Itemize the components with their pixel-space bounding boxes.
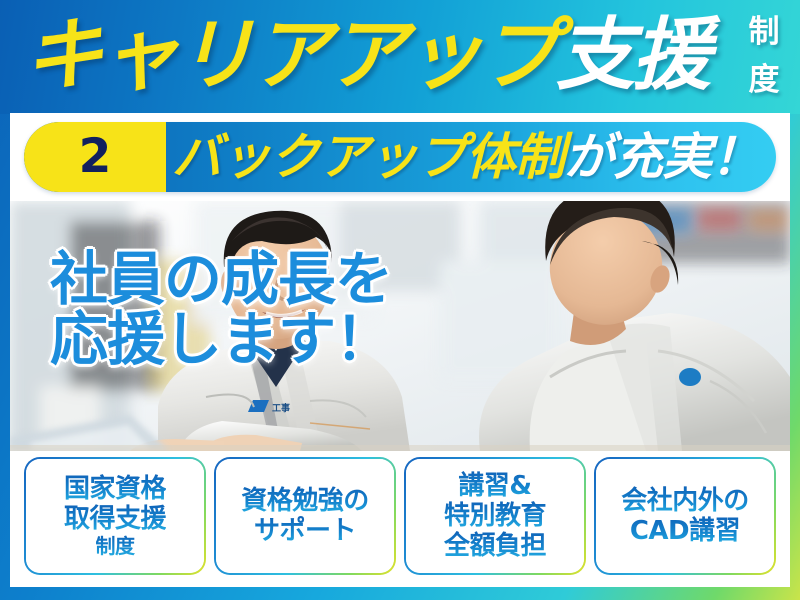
badge-koshu-tokubetsu[interactable]: 講習& 特別教育 全額負担 <box>404 457 586 575</box>
badge-inner: 講習& 特別教育 全額負担 <box>406 459 584 573</box>
hero-band: キャリアアップ支援 制 度 <box>0 0 800 114</box>
badge-line: CAD講習 <box>630 516 740 546</box>
badge-line: 国家資格 <box>64 474 166 504</box>
svg-text:工事: 工事 <box>272 402 290 414</box>
hero-subtitle: 制 度 <box>736 8 792 104</box>
badge-shikaku-benkyo[interactable]: 資格勉強の サポート <box>214 457 396 575</box>
main-message-line1: 社員の成長を <box>50 249 392 309</box>
hero-title-yellow: キャリアアップ <box>24 9 556 101</box>
badge-cad-koshu[interactable]: 会社内外の CAD講習 <box>594 457 776 575</box>
content-card: 2 バックアップ体制が充実！ <box>10 113 790 587</box>
badge-line: 特別教育 <box>444 501 546 531</box>
badge-line: 会社内外の <box>621 486 749 516</box>
badge-line: サポート <box>254 516 356 546</box>
headline-text: バックアップ体制が充実！ <box>172 122 760 192</box>
badge-line: 制度 <box>96 534 135 558</box>
main-message: 社員の成長を 応援します！ <box>50 249 392 369</box>
headline-text-yellow: バックアップ体制 <box>172 128 564 186</box>
badge-inner: 資格勉強の サポート <box>216 459 394 573</box>
hero-subtitle-line1: 制 <box>736 8 792 56</box>
badge-inner: 会社内外の CAD講習 <box>596 459 774 573</box>
headline-pill: 2 バックアップ体制が充実！ <box>24 122 776 192</box>
hero-title: キャリアアップ支援 <box>24 5 708 105</box>
banner-root: キャリアアップ支援 制 度 2 バックアップ体制が充実！ <box>0 0 800 600</box>
hero-title-white: 支援 <box>556 9 708 101</box>
headline-number-badge: 2 <box>24 122 166 192</box>
badge-kokka-shikaku[interactable]: 国家資格 取得支援 制度 <box>24 457 206 575</box>
badge-line: 全額負担 <box>444 531 546 561</box>
feature-badges: 国家資格 取得支援 制度 資格勉強の サポート 講習& 特別教育 全額負担 <box>24 457 776 575</box>
badge-line: 資格勉強の <box>241 486 369 516</box>
badge-line: 講習& <box>458 471 531 501</box>
hero-subtitle-line2: 度 <box>736 56 792 104</box>
main-message-line2: 応援します！ <box>50 309 392 369</box>
badge-inner: 国家資格 取得支援 制度 <box>26 459 204 573</box>
badge-line: 取得支援 <box>64 504 166 534</box>
headline-text-white: が充実！ <box>564 128 760 186</box>
